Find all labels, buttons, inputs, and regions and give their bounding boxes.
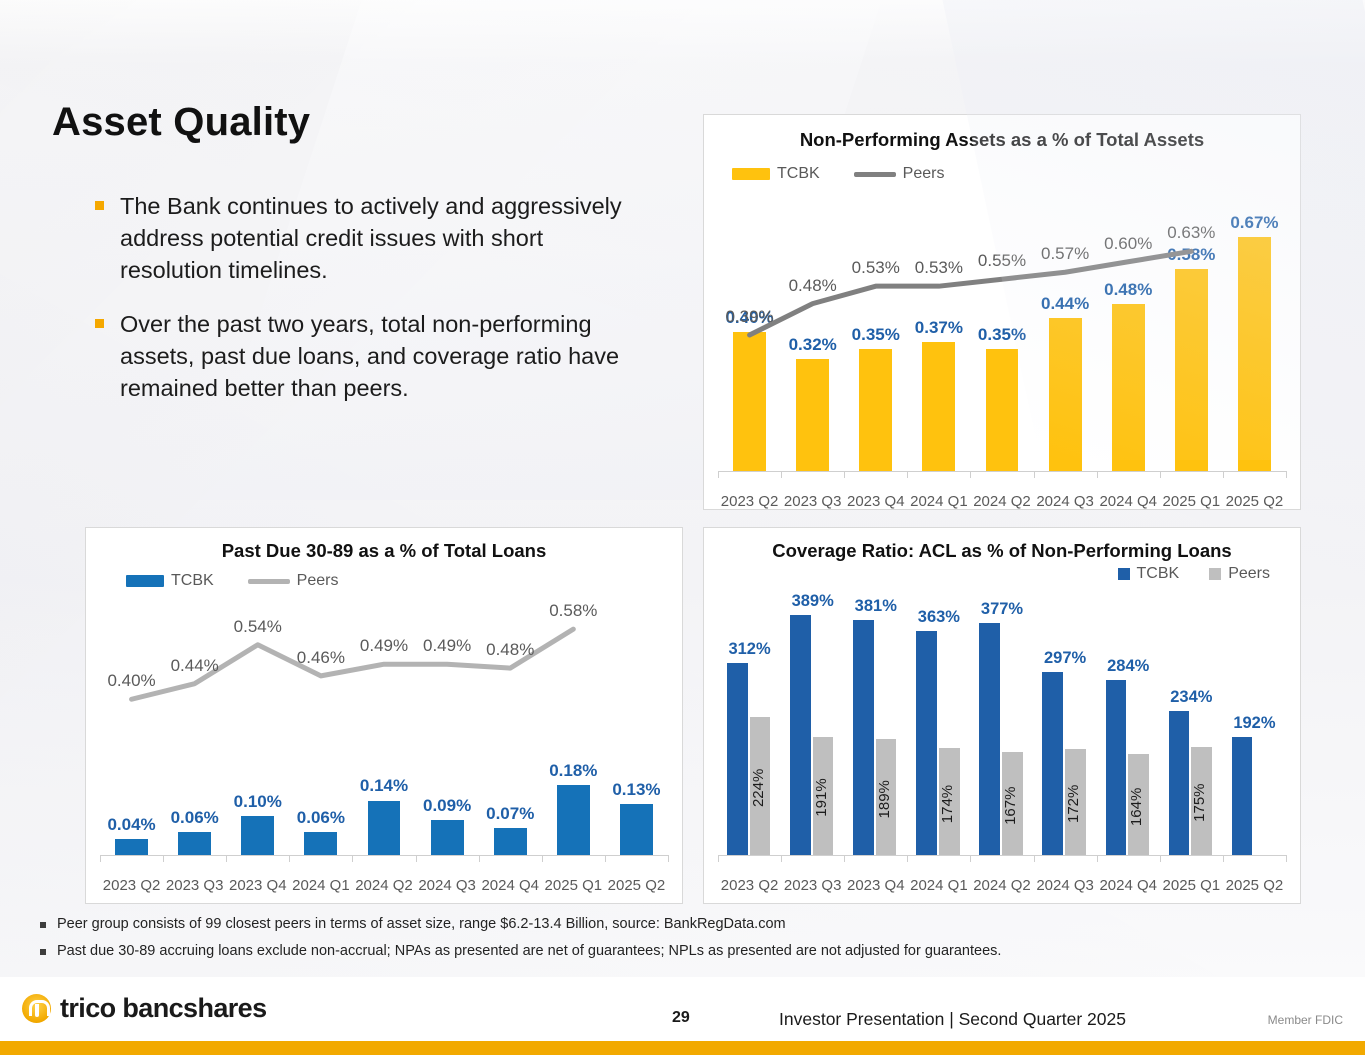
- legend-label: Peers: [297, 572, 339, 590]
- chart-x-axis-labels: 2023 Q22023 Q32023 Q42024 Q12024 Q22024 …: [718, 877, 1286, 894]
- line-value-label: 0.40%: [100, 671, 163, 691]
- x-axis-tick: [668, 855, 669, 862]
- bar-value-label: 363%: [907, 608, 970, 627]
- x-axis-tick-label: 2023 Q4: [226, 877, 289, 894]
- legend-swatch-line-icon: [248, 579, 290, 584]
- chart-past-due: Past Due 30-89 as a % of Total Loans TCB…: [85, 527, 683, 904]
- peers-line-series: [718, 199, 1286, 489]
- x-axis-tick-label: 2024 Q4: [479, 877, 542, 894]
- x-axis-tick: [718, 855, 719, 862]
- legend-label: TCBK: [777, 165, 820, 183]
- legend-item-peers: Peers: [854, 165, 945, 183]
- legend-label: Peers: [1228, 565, 1270, 583]
- line-value-label: 0.58%: [542, 601, 605, 621]
- line-value-label: 0.44%: [163, 656, 226, 676]
- footnotes: Peer group consists of 99 closest peers …: [40, 915, 1240, 969]
- line-value-label: 0.63%: [1160, 223, 1223, 243]
- line-value-label: 0.57%: [1034, 244, 1097, 264]
- legend-item-tcbk: TCBK: [1118, 565, 1180, 583]
- chart-x-axis-labels: 2023 Q22023 Q32023 Q42024 Q12024 Q22024 …: [100, 877, 668, 894]
- bar-tcbk: [1169, 711, 1190, 855]
- footnote-text: Peer group consists of 99 closest peers …: [57, 915, 786, 933]
- legend-swatch-line-icon: [854, 172, 896, 177]
- line-value-label: 0.54%: [226, 617, 289, 637]
- x-axis-tick-label: 2025 Q2: [1223, 877, 1286, 894]
- legend-label: Peers: [903, 165, 945, 183]
- bar-tcbk: [1112, 304, 1145, 471]
- x-axis-tick-label: 2024 Q1: [907, 877, 970, 894]
- member-fdic-label: Member FDIC: [1268, 1013, 1343, 1027]
- footer-center-text: Investor Presentation | Second Quarter 2…: [779, 1009, 1126, 1030]
- bar-value-label: 224%: [750, 725, 771, 851]
- bar-value-label: 297%: [1034, 649, 1097, 668]
- x-axis-tick-label: 2024 Q4: [1097, 493, 1160, 510]
- line-value-label: 0.55%: [970, 251, 1033, 271]
- footnote-bullet-icon: [40, 949, 46, 955]
- bar-tcbk: [1106, 680, 1127, 855]
- chart-plot-area: 0.04%0.06%0.10%0.06%0.14%0.09%0.07%0.18%…: [100, 598, 668, 873]
- bar-tcbk: [979, 623, 1000, 855]
- x-axis-tick: [844, 855, 845, 862]
- x-axis-line: [718, 855, 1286, 856]
- x-axis-tick-label: 2023 Q4: [844, 493, 907, 510]
- x-axis-tick-label: 2024 Q1: [289, 877, 352, 894]
- x-axis-tick-label: 2024 Q3: [416, 877, 479, 894]
- bar-value-label: 174%: [939, 756, 960, 851]
- legend-swatch-square-icon: [1209, 568, 1221, 580]
- line-value-label: 0.60%: [1097, 234, 1160, 254]
- slide-canvas: Asset Quality The Bank continues to acti…: [0, 0, 1365, 1055]
- x-axis-tick: [1160, 855, 1161, 862]
- bar-value-label: 167%: [1002, 760, 1023, 851]
- chart-legend: TCBK Peers: [1118, 565, 1270, 583]
- trico-tulip-icon: [22, 994, 51, 1023]
- bar-tcbk: [1232, 737, 1253, 855]
- bar-value-label: 172%: [1065, 757, 1086, 851]
- bar-tcbk: [727, 663, 748, 855]
- bar-tcbk: [853, 620, 874, 855]
- bar-value-label: 0.67%: [1223, 213, 1286, 233]
- footnote-text: Past due 30-89 accruing loans exclude no…: [57, 942, 1001, 960]
- bar-value-label: 389%: [781, 592, 844, 611]
- bar-value-label: 381%: [844, 597, 907, 616]
- legend-item-peers: Peers: [1209, 565, 1270, 583]
- x-axis-tick: [1223, 855, 1224, 862]
- bar-tcbk: [1042, 672, 1063, 855]
- x-axis-tick-label: 2023 Q2: [718, 493, 781, 510]
- bullet-text: The Bank continues to actively and aggre…: [120, 190, 625, 286]
- x-axis-tick-label: 2025 Q2: [1223, 493, 1286, 510]
- line-value-label: 0.39%: [718, 307, 781, 327]
- x-axis-tick: [1286, 855, 1287, 862]
- x-axis-tick-label: 2024 Q2: [970, 493, 1033, 510]
- x-axis-tick-label: 2023 Q4: [844, 877, 907, 894]
- bar-value-label: 312%: [718, 640, 781, 659]
- legend-item-peers: Peers: [248, 572, 339, 590]
- list-item: The Bank continues to actively and aggre…: [95, 190, 625, 286]
- legend-label: TCBK: [171, 572, 214, 590]
- bar-tcbk: [790, 615, 811, 855]
- list-item: Over the past two years, total non-perfo…: [95, 308, 625, 404]
- footnote-bullet-icon: [40, 922, 46, 928]
- x-axis-tick-label: 2024 Q1: [907, 493, 970, 510]
- chart-legend: TCBK Peers: [126, 572, 338, 590]
- x-axis-tick-label: 2025 Q1: [542, 877, 605, 894]
- bar-value-label: 234%: [1160, 688, 1223, 707]
- bar-tcbk: [1175, 269, 1208, 471]
- legend-swatch-bar-icon: [126, 575, 164, 587]
- x-axis-tick-label: 2023 Q3: [781, 877, 844, 894]
- bullet-text: Over the past two years, total non-perfo…: [120, 308, 625, 404]
- line-value-label: 0.49%: [416, 636, 479, 656]
- legend-item-tcbk: TCBK: [732, 165, 820, 183]
- bar-tcbk: [1238, 237, 1271, 471]
- bar-value-label: 377%: [970, 600, 1033, 619]
- x-axis-tick-label: 2023 Q3: [163, 877, 226, 894]
- x-axis-tick-label: 2024 Q3: [1034, 877, 1097, 894]
- bar-tcbk: [916, 631, 937, 855]
- footnote-item: Peer group consists of 99 closest peers …: [40, 915, 1240, 933]
- x-axis-tick-label: 2024 Q2: [970, 877, 1033, 894]
- line-value-label: 0.53%: [844, 258, 907, 278]
- bar-value-label: 0.44%: [1034, 294, 1097, 314]
- chart-plot-area: 312%389%381%363%377%297%284%234%192%224%…: [718, 590, 1286, 873]
- x-axis-tick: [970, 855, 971, 862]
- chart-coverage-ratio: Coverage Ratio: ACL as % of Non-Performi…: [703, 527, 1301, 904]
- x-axis-tick: [781, 855, 782, 862]
- footnote-item: Past due 30-89 accruing loans exclude no…: [40, 942, 1240, 960]
- bar-value-label: 284%: [1097, 657, 1160, 676]
- line-value-label: 0.48%: [781, 276, 844, 296]
- page-number: 29: [672, 1009, 690, 1027]
- chart-non-performing-assets: Non-Performing Assets as a % of Total As…: [703, 114, 1301, 510]
- legend-swatch-bar-icon: [732, 168, 770, 180]
- company-logo: trico bancshares: [22, 993, 267, 1024]
- chart-title: Non-Performing Assets as a % of Total As…: [704, 129, 1300, 151]
- chart-title: Coverage Ratio: ACL as % of Non-Performi…: [704, 540, 1300, 562]
- bullet-square-icon: [95, 319, 104, 328]
- x-axis-tick: [1034, 855, 1035, 862]
- bar-value-label: 175%: [1191, 755, 1212, 851]
- x-axis-tick-label: 2023 Q2: [718, 877, 781, 894]
- chart-legend: TCBK Peers: [732, 165, 944, 183]
- bullet-square-icon: [95, 201, 104, 210]
- x-axis-tick: [1286, 471, 1287, 478]
- logo-text: trico bancshares: [60, 993, 267, 1024]
- x-axis-tick-label: 2025 Q2: [605, 877, 668, 894]
- x-axis-tick: [907, 855, 908, 862]
- line-value-label: 0.53%: [907, 258, 970, 278]
- x-axis-tick-label: 2024 Q4: [1097, 877, 1160, 894]
- chart-plot-area: 0.40%0.32%0.35%0.37%0.35%0.44%0.48%0.58%…: [718, 199, 1286, 489]
- x-axis-tick-label: 2023 Q3: [781, 493, 844, 510]
- x-axis-tick-label: 2025 Q1: [1160, 493, 1223, 510]
- bar-value-label: 0.58%: [1160, 245, 1223, 265]
- bar-value-label: 164%: [1128, 762, 1149, 851]
- legend-item-tcbk: TCBK: [126, 572, 214, 590]
- bar-value-label: 0.48%: [1097, 280, 1160, 300]
- chart-title: Past Due 30-89 as a % of Total Loans: [86, 540, 682, 562]
- x-axis-tick-label: 2024 Q3: [1034, 493, 1097, 510]
- slide-footer: trico bancshares 29 Investor Presentatio…: [0, 977, 1365, 1055]
- chart-x-axis-labels: 2023 Q22023 Q32023 Q42024 Q12024 Q22024 …: [718, 493, 1286, 510]
- footer-accent-bar: [0, 1041, 1365, 1055]
- x-axis-tick-label: 2025 Q1: [1160, 877, 1223, 894]
- bar-value-label: 192%: [1223, 714, 1286, 733]
- page-title: Asset Quality: [52, 100, 310, 145]
- line-value-label: 0.46%: [289, 648, 352, 668]
- bar-tcbk: [1049, 318, 1082, 471]
- bullet-list: The Bank continues to actively and aggre…: [95, 190, 625, 426]
- x-axis-tick-label: 2024 Q2: [352, 877, 415, 894]
- x-axis-tick: [1097, 855, 1098, 862]
- bar-value-label: 191%: [813, 745, 834, 851]
- legend-swatch-square-icon: [1118, 568, 1130, 580]
- bar-value-label: 189%: [876, 747, 897, 851]
- x-axis-tick-label: 2023 Q2: [100, 877, 163, 894]
- line-value-label: 0.48%: [479, 640, 542, 660]
- legend-label: TCBK: [1137, 565, 1180, 583]
- line-value-label: 0.49%: [352, 636, 415, 656]
